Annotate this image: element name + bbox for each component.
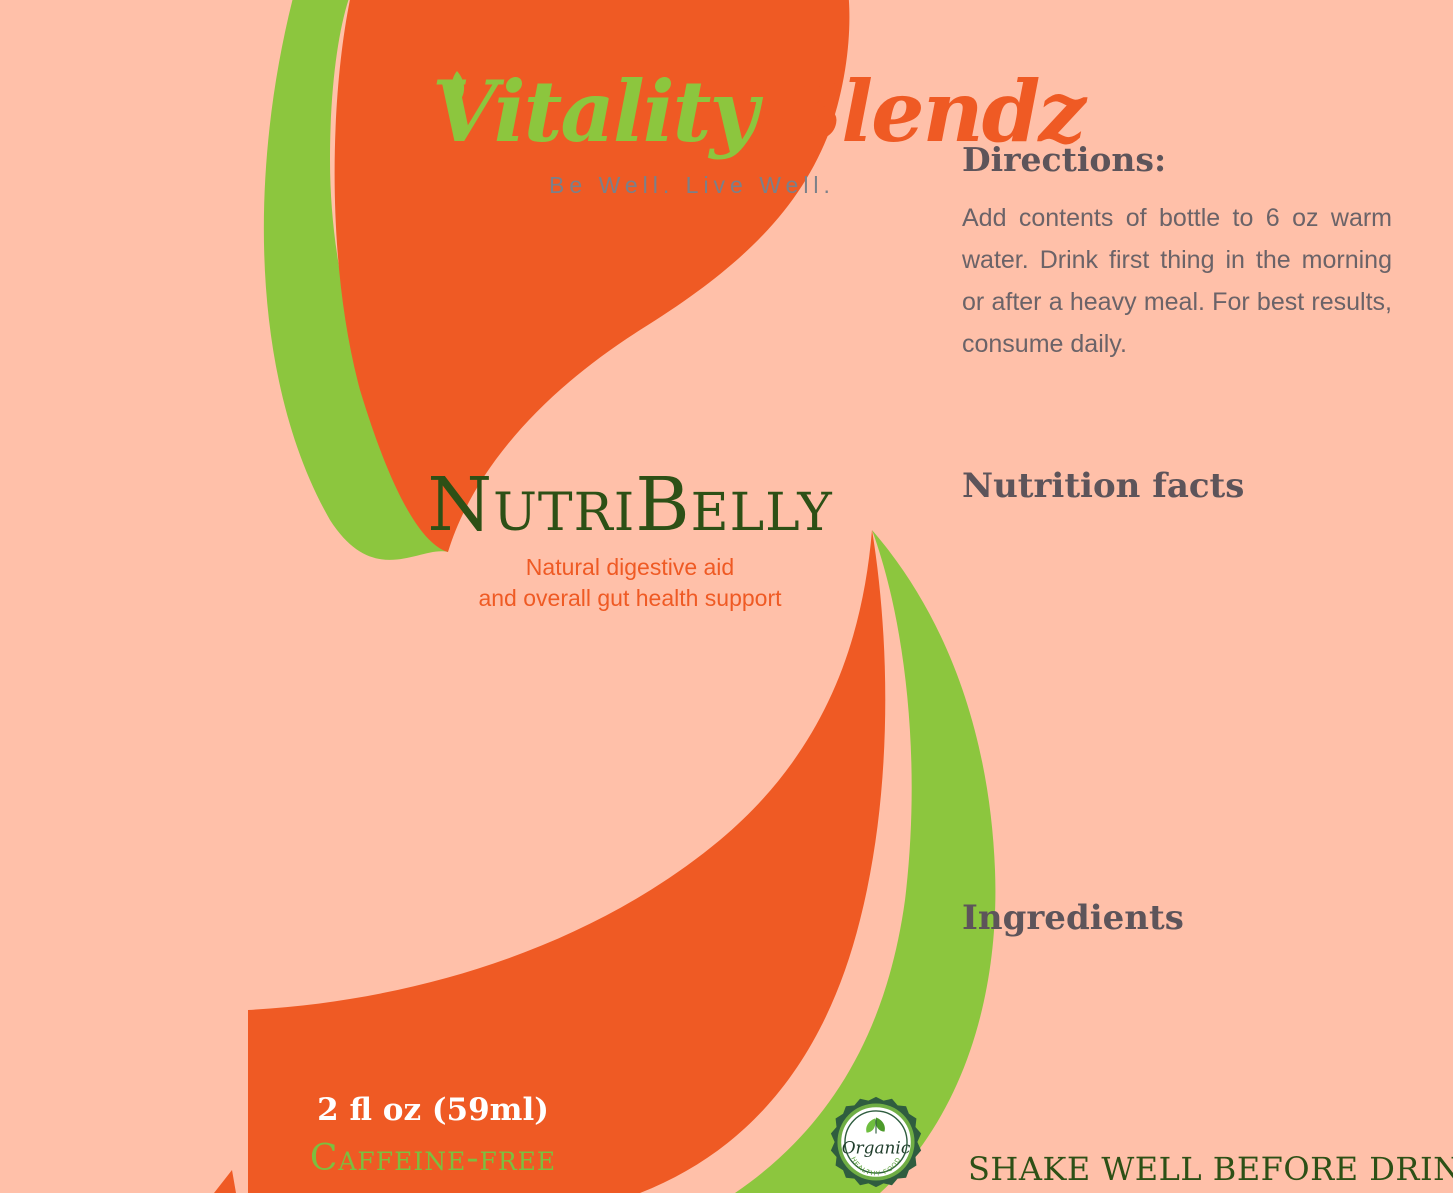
brand-tagline: Be Well. Live Well.: [432, 172, 952, 199]
bottom-left-sliver: [214, 1170, 236, 1193]
shake-well-notice: SHAKE WELL BEFORE DRINK: [968, 1150, 1453, 1188]
organic-seal-main-text: Organic: [842, 1137, 911, 1157]
volume-block: 2 fl oz (59ml) Caffeine-free: [268, 1092, 598, 1179]
directions-section: Directions: Add contents of bottle to 6 …: [962, 140, 1392, 365]
nutrition-facts-section: Nutrition facts: [962, 466, 1392, 506]
nutrition-facts-heading: Nutrition facts: [962, 466, 1392, 506]
ingredients-section: Ingredients: [962, 898, 1392, 938]
net-volume-text: 2 fl oz (59ml): [268, 1092, 598, 1128]
caffeine-free-text: Caffeine-free: [268, 1138, 598, 1179]
product-label: VitalityBlendz Be Well. Live Well. Nutri…: [0, 0, 1453, 1193]
directions-body: Add contents of bottle to 6 oz warm wate…: [962, 197, 1392, 365]
product-subtitle-line-2: and overall gut health support: [370, 583, 890, 614]
product-subtitle-line-1: Natural digestive aid: [370, 552, 890, 583]
product-title-block: NutriBelly Natural digestive aid and ove…: [370, 468, 890, 614]
bottom-swoosh-green-edge: [735, 530, 995, 1193]
brand-wordmark: VitalityBlendz: [432, 58, 952, 166]
ingredients-heading: Ingredients: [962, 898, 1392, 938]
brand-name-vitality: Vitality: [432, 62, 756, 161]
product-name: NutriBelly: [370, 468, 890, 542]
brand-logo: VitalityBlendz Be Well. Live Well.: [432, 58, 952, 199]
directions-heading: Directions:: [962, 140, 1392, 179]
organic-seal-badge: Organic HEALTHY FOOD: [829, 1095, 923, 1189]
leaf-icon: [446, 70, 468, 104]
product-subtitle: Natural digestive aid and overall gut he…: [370, 552, 890, 614]
